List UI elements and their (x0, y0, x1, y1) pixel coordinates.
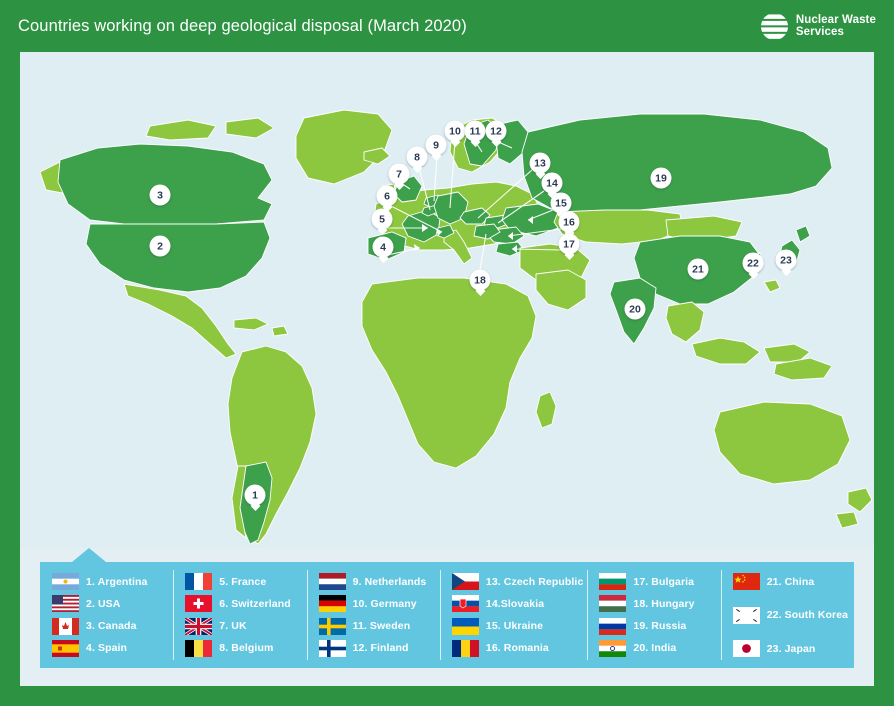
map-marker-sweden[interactable]: 11 (465, 121, 486, 142)
legend-item-argentina[interactable]: 1. Argentina (52, 571, 169, 592)
map-marker-usa[interactable]: 2 (150, 236, 171, 257)
legend-label: 21. China (767, 576, 815, 588)
legend-item-france[interactable]: 5. France (185, 571, 302, 592)
flag-bulgaria-icon (599, 573, 626, 590)
legend-panel: 1. Argentina 2. USA 3. Canada (40, 562, 854, 668)
map-marker-bulgaria[interactable]: 17 (559, 234, 580, 255)
legend-item-switzerland[interactable]: 6. Switzerland (185, 593, 302, 614)
map-marker-hungary[interactable]: 18 (470, 270, 491, 291)
logo-text: Nuclear Waste Services (796, 14, 876, 39)
flag-germany-icon (319, 595, 346, 612)
legend-item-china[interactable]: 21. China (733, 571, 850, 592)
flag-argentina-icon (52, 573, 79, 590)
legend-item-canada[interactable]: 3. Canada (52, 616, 169, 637)
legend-item-netherlands[interactable]: 9. Netherlands (319, 571, 436, 592)
flag-ukraine-icon (452, 618, 479, 635)
map-marker-czech-republic[interactable]: 13 (530, 153, 551, 174)
flag-netherlands-icon (319, 573, 346, 590)
legend-item-germany[interactable]: 10. Germany (319, 593, 436, 614)
legend-label: 2. USA (86, 598, 120, 610)
map-marker-japan[interactable]: 23 (776, 250, 797, 271)
flag-romania-icon (452, 640, 479, 657)
flag-czech-icon (452, 573, 479, 590)
legend-label: 4. Spain (86, 642, 127, 654)
map-marker-ukraine[interactable]: 15 (551, 193, 572, 214)
legend-column-6: 21. China 22. South Korea 23. Ja (721, 562, 854, 668)
map-marker-france[interactable]: 5 (372, 209, 393, 230)
legend-item-russia[interactable]: 19. Russia (599, 616, 716, 637)
legend-label: 10. Germany (353, 598, 417, 610)
map-marker-spain[interactable]: 4 (373, 237, 394, 258)
legend-item-romania[interactable]: 16. Romania (452, 638, 584, 659)
legend-label: 3. Canada (86, 620, 137, 632)
map-marker-belgium[interactable]: 8 (407, 147, 428, 168)
legend-item-hungary[interactable]: 18. Hungary (599, 593, 716, 614)
legend-label: 12. Finland (353, 642, 409, 654)
legend-item-sweden[interactable]: 11. Sweden (319, 616, 436, 637)
logo-text-line2: Services (796, 26, 876, 39)
legend-label: 14.Slovakia (486, 598, 544, 610)
legend-label: 20. India (633, 642, 676, 654)
legend-label: 22. South Korea (767, 609, 848, 621)
logo: Nuclear Waste Services (760, 12, 876, 41)
legend-item-bulgaria[interactable]: 17. Bulgaria (599, 571, 716, 592)
legend-label: 6. Switzerland (219, 598, 290, 610)
flag-russia-icon (599, 618, 626, 635)
flag-sweden-icon (319, 618, 346, 635)
legend-column-1: 1. Argentina 2. USA 3. Canada (40, 562, 173, 668)
legend-label: 7. UK (219, 620, 246, 632)
page-title: Countries working on deep geological dis… (18, 17, 467, 36)
map-marker-india[interactable]: 20 (625, 299, 646, 320)
legend-item-india[interactable]: 20. India (599, 638, 716, 659)
map-marker-china[interactable]: 21 (688, 259, 709, 280)
legend-item-finland[interactable]: 12. Finland (319, 638, 436, 659)
legend-label: 9. Netherlands (353, 576, 427, 588)
legend-column-5: 17. Bulgaria 18. Hungary 19. Russia (587, 562, 720, 668)
legend-label: 8. Belgium (219, 642, 273, 654)
legend-item-slovakia[interactable]: 14.Slovakia (452, 593, 584, 614)
legend-label: 5. France (219, 576, 266, 588)
legend-label: 18. Hungary (633, 598, 694, 610)
legend-label: 13. Czech Republic (486, 576, 584, 588)
legend-item-usa[interactable]: 2. USA (52, 593, 169, 614)
map-marker-russia[interactable]: 19 (651, 168, 672, 189)
flag-hungary-icon (599, 595, 626, 612)
header-bar: Countries working on deep geological dis… (0, 0, 894, 52)
flag-spain-icon (52, 640, 79, 657)
legend-item-czech-republic[interactable]: 13. Czech Republic (452, 571, 584, 592)
flag-japan-icon (733, 640, 760, 657)
flag-belgium-icon (185, 640, 212, 657)
map-marker-canada[interactable]: 3 (150, 185, 171, 206)
map-marker-romania[interactable]: 16 (559, 212, 580, 233)
flag-finland-icon (319, 640, 346, 657)
legend-item-ukraine[interactable]: 15. Ukraine (452, 616, 584, 637)
legend-item-belgium[interactable]: 8. Belgium (185, 638, 302, 659)
map-marker-finland[interactable]: 12 (486, 121, 507, 142)
flag-usa-icon (52, 595, 79, 612)
legend-item-uk[interactable]: 7. UK (185, 616, 302, 637)
legend-label: 1. Argentina (86, 576, 148, 588)
flag-switzerland-icon (185, 595, 212, 612)
logo-text-line1: Nuclear Waste (796, 14, 876, 27)
legend-label: 19. Russia (633, 620, 686, 632)
legend-label: 15. Ukraine (486, 620, 543, 632)
map-marker-germany[interactable]: 10 (445, 121, 466, 142)
map-marker-slovakia[interactable]: 14 (542, 173, 563, 194)
content-panel: 1 2 3 4 5 6 7 8 9 10 11 12 13 14 15 16 1… (20, 52, 874, 686)
legend-column-3: 9. Netherlands 10. Germany 11. Sweden (307, 562, 440, 668)
legend-label: 23. Japan (767, 643, 816, 655)
flag-china-icon (733, 573, 760, 590)
legend-label: 16. Romania (486, 642, 549, 654)
legend-column-2: 5. France 6. Switzerland 7. UK (173, 562, 306, 668)
legend-item-spain[interactable]: 4. Spain (52, 638, 169, 659)
flag-south-korea-icon (733, 607, 760, 624)
flag-uk-icon (185, 618, 212, 635)
legend-item-japan[interactable]: 23. Japan (733, 638, 850, 659)
map-marker-netherlands[interactable]: 9 (426, 135, 447, 156)
map-marker-uk[interactable]: 7 (389, 164, 410, 185)
legend-column-4: 13. Czech Republic 14.Slovakia 15. Ukrai… (440, 562, 588, 668)
map-marker-south-korea[interactable]: 22 (743, 253, 764, 274)
legend-pointer-notch (72, 548, 106, 562)
legend-item-south-korea[interactable]: 22. South Korea (733, 605, 850, 626)
flag-france-icon (185, 573, 212, 590)
flag-canada-icon (52, 618, 79, 635)
legend-label: 11. Sweden (353, 620, 411, 632)
legend-label: 17. Bulgaria (633, 576, 694, 588)
map-marker-switzerland[interactable]: 6 (377, 186, 398, 207)
flag-india-icon (599, 640, 626, 657)
world-map[interactable]: 1 2 3 4 5 6 7 8 9 10 11 12 13 14 15 16 1… (20, 52, 874, 548)
striped-circle-icon (760, 12, 789, 41)
map-marker-argentina[interactable]: 1 (245, 485, 266, 506)
flag-slovakia-icon (452, 595, 479, 612)
